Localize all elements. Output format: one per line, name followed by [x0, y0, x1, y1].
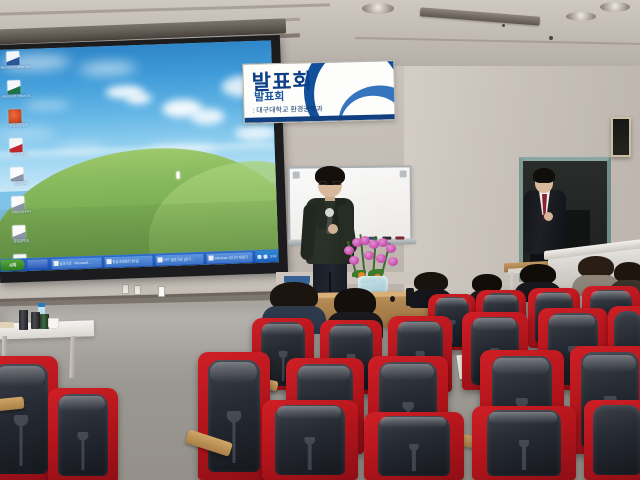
desktop-icon-label: 한글과컴퓨터 — [0, 123, 40, 128]
tray-icon[interactable] — [258, 254, 262, 258]
excel-document-icon — [7, 80, 20, 94]
mouse-pointer-icon — [176, 172, 179, 179]
orchid-bloom — [364, 251, 374, 260]
ceiling-fitting — [502, 24, 505, 27]
glasses-icon — [319, 181, 341, 185]
window-icon — [208, 255, 213, 260]
window-icon — [106, 259, 111, 264]
file-icon — [11, 196, 24, 210]
seat-highlight — [489, 412, 558, 424]
tabletop-object[interactable] — [390, 296, 395, 302]
seat-highlight — [298, 366, 349, 381]
snack-item[interactable] — [0, 322, 14, 328]
seat-highlight — [549, 315, 595, 328]
taskbar-button-label: PPT 발표자료 [읽기... — [163, 256, 193, 262]
auditorium-seat[interactable] — [198, 352, 270, 480]
seat-highlight — [591, 291, 629, 301]
auditorium-seat[interactable] — [48, 388, 118, 480]
start-button[interactable]: 시작 — [0, 259, 24, 271]
seat-highlight — [330, 326, 371, 338]
bottle-cap — [38, 303, 45, 307]
desktop-icon-label: Microsoft Office Wo... — [0, 66, 38, 71]
window-icon — [54, 261, 59, 266]
word-document-icon — [6, 51, 19, 65]
lecture-hall-photo: Microsoft Office Wo... Microsoft Office … — [0, 0, 640, 480]
clock: 3:42 — [270, 254, 277, 258]
moderator-hand — [544, 212, 553, 221]
desktop-icon-label: 환경공학과... — [2, 239, 44, 244]
seat-highlight — [210, 362, 258, 382]
orchid-bloom — [376, 254, 386, 263]
taskbar-button[interactable]: 한글과컴퓨터 한/글 — [104, 255, 152, 267]
beverage-can[interactable] — [31, 312, 40, 329]
desktop-icon[interactable]: 한글과컴퓨터 — [0, 108, 40, 135]
desktop-icon-list: Microsoft Office Wo... Microsoft Office … — [0, 50, 47, 272]
file-icon — [10, 167, 23, 181]
seat-highlight — [398, 322, 440, 334]
auditorium-seat[interactable] — [472, 406, 576, 480]
seat-highlight — [262, 324, 303, 336]
desktop-icon-label: Microsoft Office Ex... — [0, 94, 39, 99]
ceiling-fitting — [549, 36, 553, 40]
orchid-bloom — [386, 244, 396, 253]
system-tray[interactable]: 3:42 — [256, 250, 279, 262]
taskbar-button[interactable]: 발표자료 - Microsoft ... — [51, 257, 101, 269]
power-outlet[interactable] — [122, 284, 129, 294]
orchid-bloom — [344, 246, 354, 255]
seat-logo-emboss — [392, 444, 435, 472]
seat-highlight — [583, 355, 636, 372]
seat-logo-emboss — [502, 440, 547, 470]
downlight-icon — [566, 12, 596, 21]
hwp-document-icon — [8, 109, 21, 123]
seat-highlight — [436, 298, 468, 307]
seat-highlight — [536, 293, 570, 303]
wall-speaker-icon — [611, 117, 631, 157]
desktop-icon[interactable]: 발표자료 — [0, 166, 42, 193]
glasses-lens — [319, 181, 327, 185]
seat-highlight — [277, 406, 340, 419]
auditorium-seat[interactable] — [584, 400, 640, 480]
tray-icon[interactable] — [264, 254, 268, 258]
taskbar-button[interactable]: PPT 발표자료 [읽기... — [155, 253, 203, 265]
desktop-icon[interactable]: 환경공학과... — [1, 224, 44, 251]
banner-affiliation: : 대구대학교 환경공학과 — [252, 104, 322, 116]
pdf-document-icon — [9, 138, 22, 152]
orchid-bloom — [349, 256, 359, 265]
taskbar-button-label: 발표자료 - Microsoft ... — [60, 260, 92, 266]
fluorescent-light-icon — [420, 7, 540, 25]
seat-backrest-pad — [593, 405, 640, 475]
seat-logo-emboss — [218, 411, 249, 463]
taskbar-button-label: 한글과컴퓨터 한/글 — [112, 258, 138, 264]
glasses-lens — [333, 181, 341, 185]
desktop-icon-label: PDF 문서 — [0, 152, 41, 157]
projected-desktop[interactable]: Microsoft Office Wo... Microsoft Office … — [0, 40, 279, 272]
seat-highlight — [473, 318, 517, 330]
auditorium-seat[interactable] — [262, 400, 358, 480]
desktop-icon[interactable]: PDF 문서 — [0, 137, 41, 164]
taskbar-button[interactable]: Windows 미디어 재생기 — [206, 252, 252, 264]
file-icon — [12, 225, 25, 239]
seat-logo-emboss — [289, 437, 330, 469]
paper-cup[interactable] — [48, 318, 59, 329]
desktop-icon[interactable]: Microsoft Office Ex... — [0, 80, 39, 107]
quick-launch-bar[interactable] — [27, 259, 47, 269]
seat-highlight — [381, 364, 434, 380]
auditorium-seat[interactable] — [364, 412, 464, 480]
desktop-icon-label: 발표자료 — [0, 181, 42, 186]
event-banner: 발표회 발표회 : 대구대학교 환경공학과 — [242, 60, 395, 124]
power-outlet[interactable] — [134, 285, 141, 295]
ceiling-panel-seam — [0, 3, 330, 15]
seat-logo-emboss — [5, 415, 37, 466]
seat-highlight — [0, 366, 45, 386]
beverage-can[interactable] — [19, 310, 28, 330]
desktop-icon[interactable]: Microsoft Office Wo... — [0, 51, 38, 78]
window-icon — [157, 257, 162, 262]
orchid-bloom — [388, 257, 398, 266]
downlight-icon — [362, 3, 394, 14]
microphone-head — [325, 208, 334, 217]
desktop-icon-label: DAEGU.PPT — [1, 210, 43, 215]
seat-highlight — [59, 396, 105, 411]
downlight-icon — [600, 2, 630, 12]
seat-highlight — [493, 358, 548, 375]
moderator-hair — [533, 168, 555, 183]
whiteboard-corner-bracket — [400, 170, 407, 177]
seat-highlight — [484, 295, 517, 304]
seat-logo-emboss — [68, 432, 98, 470]
banner-subline: 발표회 — [254, 88, 285, 105]
seat-highlight — [380, 417, 446, 428]
power-outlet[interactable] — [158, 286, 165, 297]
presenter-hand — [328, 224, 338, 234]
desktop-icon[interactable]: DAEGU.PPT — [0, 195, 43, 222]
ceiling-wall-seam — [355, 37, 640, 45]
whiteboard-corner-bracket — [293, 172, 300, 179]
taskbar-button-label: Windows 미디어 재생기 — [214, 254, 248, 260]
